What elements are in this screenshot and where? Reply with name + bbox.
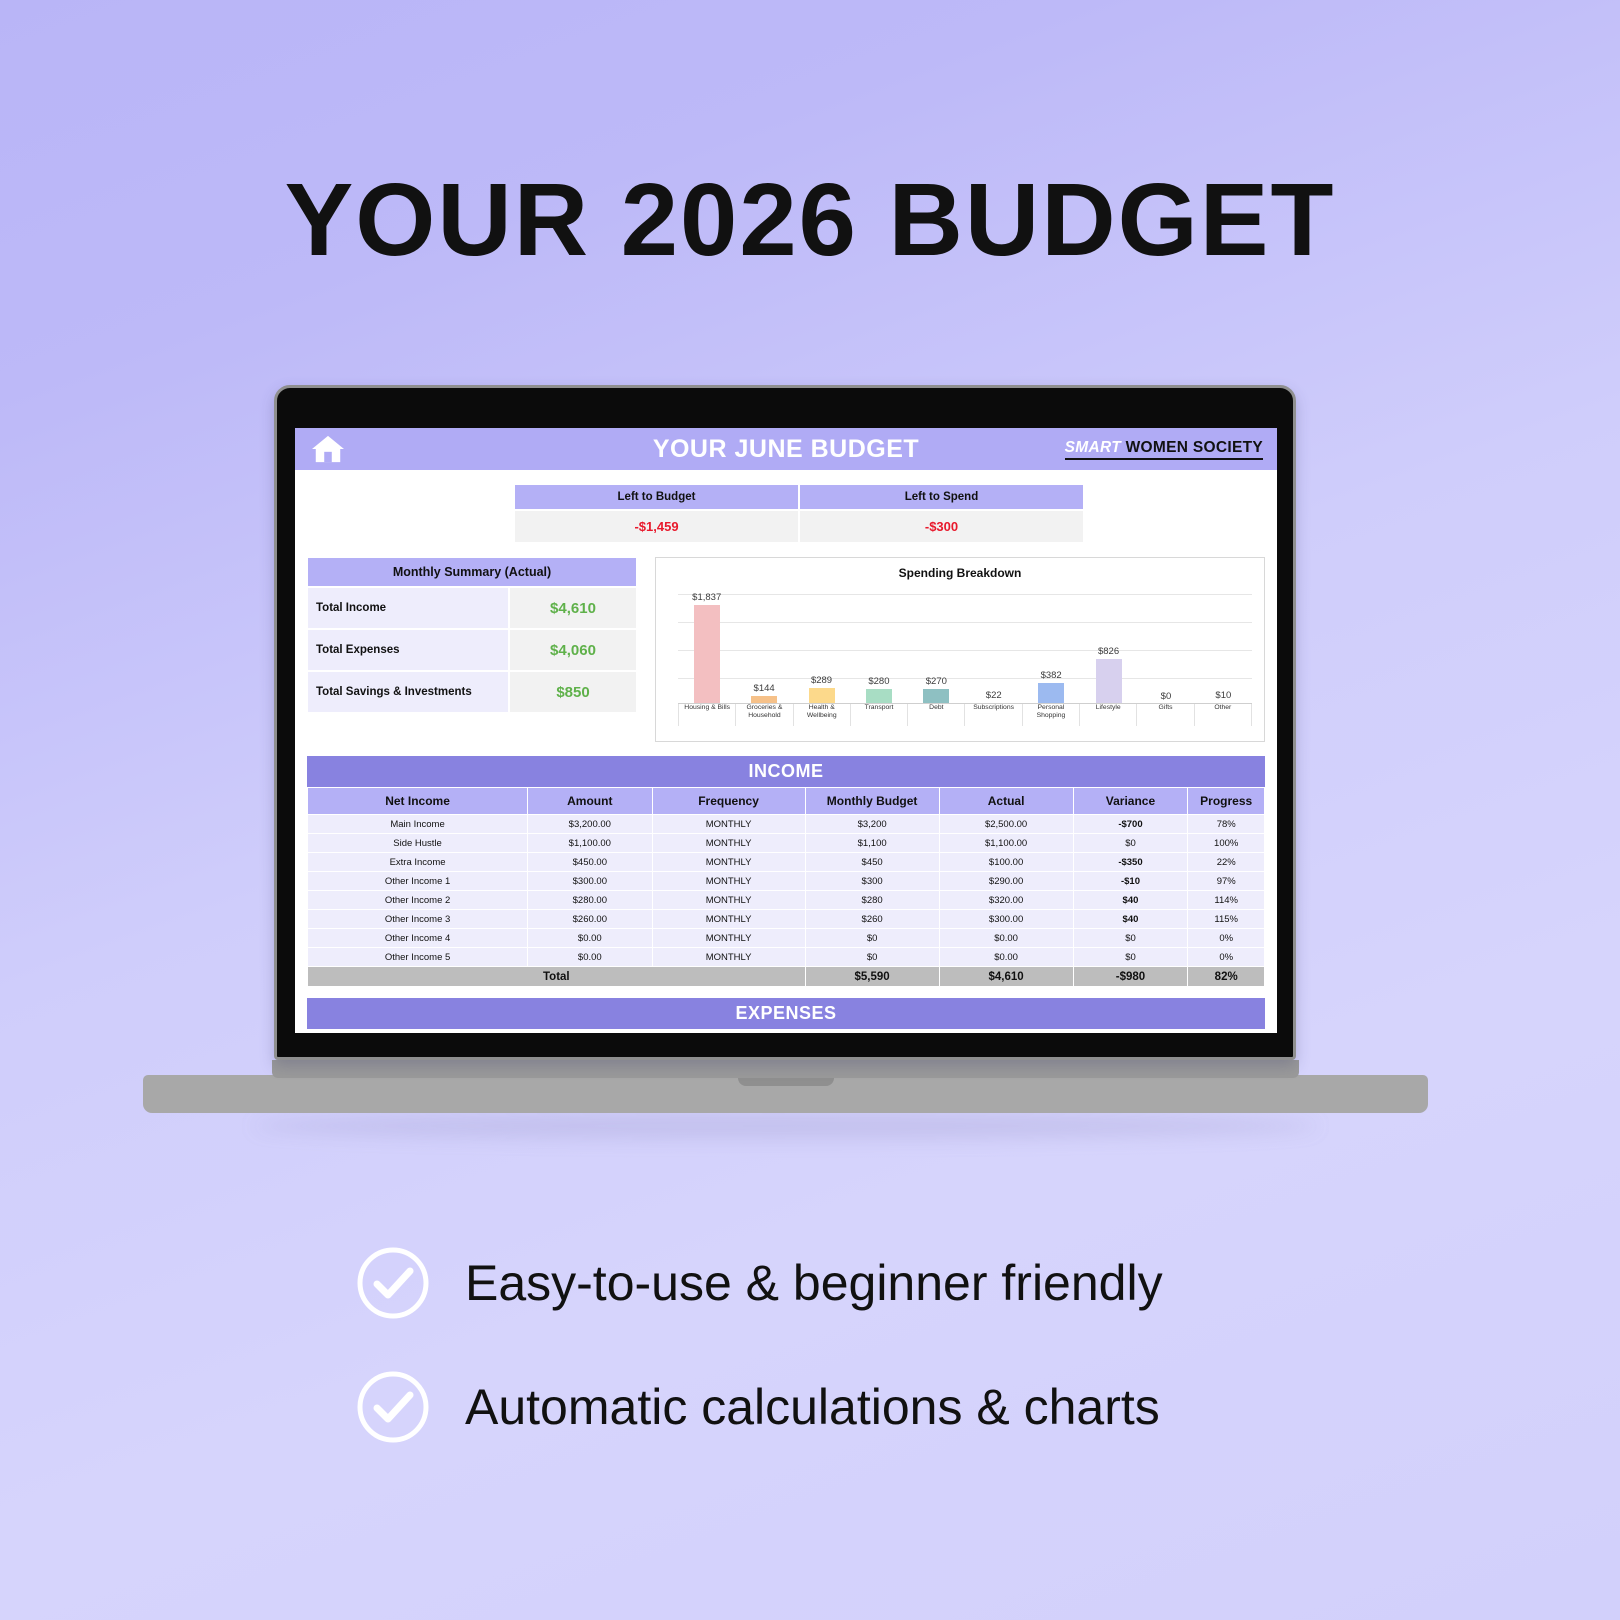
total-budget: $5,590 — [805, 967, 939, 987]
kpi-label: Left to Spend — [799, 484, 1084, 510]
chart-bar-slot: $826 — [1080, 590, 1137, 704]
row-progress: 114% — [1188, 891, 1265, 910]
chart-bar-value-label: $289 — [811, 675, 832, 686]
chart-bar-value-label: $1,837 — [692, 592, 721, 603]
col-monthly-budget: Monthly Budget — [805, 788, 939, 815]
bullet-label: Easy-to-use & beginner friendly — [465, 1254, 1163, 1312]
summary-and-chart: Monthly Summary (Actual) Total Income $4… — [295, 543, 1277, 742]
chart-x-tick-label: Personal Shopping — [1022, 704, 1079, 726]
chart-bar-value-label: $22 — [986, 690, 1002, 701]
chart-bar-slot: $382 — [1022, 590, 1079, 704]
col-progress: Progress — [1188, 788, 1265, 815]
col-actual: Actual — [939, 788, 1073, 815]
laptop-screen: YOUR JUNE BUDGET SMART WOMEN SOCIETY Lef… — [295, 428, 1277, 1033]
check-circle-icon — [355, 1245, 431, 1321]
row-progress: 78% — [1188, 815, 1265, 834]
kpi-left-to-budget: Left to Budget -$1,459 — [514, 484, 799, 543]
row-budget: $280 — [805, 891, 939, 910]
row-actual: $290.00 — [939, 872, 1073, 891]
chart-bar — [1038, 683, 1064, 704]
row-budget: $0 — [805, 948, 939, 967]
row-budget: $260 — [805, 910, 939, 929]
monthly-summary-table: Monthly Summary (Actual) Total Income $4… — [307, 557, 637, 742]
summary-value: $4,060 — [509, 629, 637, 671]
table-header-row: Net Income Amount Frequency Monthly Budg… — [308, 788, 1265, 815]
row-variance: $0 — [1073, 834, 1188, 853]
laptop-mockup: YOUR JUNE BUDGET SMART WOMEN SOCIETY Lef… — [143, 385, 1428, 1145]
total-label: Total — [308, 967, 806, 987]
row-amount: $0.00 — [528, 948, 652, 967]
row-frequency: MONTHLY — [652, 834, 805, 853]
income-section-band: INCOME — [307, 756, 1265, 787]
row-variance: -$10 — [1073, 872, 1188, 891]
row-name: Other Income 3 — [308, 910, 528, 929]
chart-bar — [809, 688, 835, 704]
chart-bar-value-label: $382 — [1041, 670, 1062, 681]
chart-bar — [866, 689, 892, 704]
chart-bar-value-label: $826 — [1098, 646, 1119, 657]
chart-plot-area: $1,837$144$289$280$270$22$382$826$0$10 H… — [664, 586, 1256, 726]
chart-bars: $1,837$144$289$280$270$22$382$826$0$10 — [678, 590, 1252, 704]
row-progress: 97% — [1188, 872, 1265, 891]
row-frequency: MONTHLY — [652, 853, 805, 872]
row-amount: $300.00 — [528, 872, 652, 891]
feature-bullets: Easy-to-use & beginner friendly Automati… — [355, 1245, 1355, 1493]
row-frequency: MONTHLY — [652, 815, 805, 834]
list-item: Easy-to-use & beginner friendly — [355, 1245, 1355, 1321]
row-name: Other Income 5 — [308, 948, 528, 967]
brand-women-society: WOMEN SOCIETY — [1126, 439, 1263, 456]
chart-x-tick-label: Lifestyle — [1079, 704, 1136, 726]
row-variance: -$350 — [1073, 853, 1188, 872]
chart-bar — [694, 605, 720, 704]
chart-x-tick-label: Health & Wellbeing — [793, 704, 850, 726]
row-budget: $300 — [805, 872, 939, 891]
chart-x-tick-label: Debt — [907, 704, 964, 726]
row-frequency: MONTHLY — [652, 948, 805, 967]
chart-bar-value-label: $144 — [754, 683, 775, 694]
table-row: Main Income$3,200.00MONTHLY$3,200$2,500.… — [308, 815, 1265, 834]
chart-x-tick-label: Subscriptions — [964, 704, 1021, 726]
chart-x-tick-label: Other — [1194, 704, 1252, 726]
row-variance: $40 — [1073, 910, 1188, 929]
row-variance: $0 — [1073, 929, 1188, 948]
table-row: Total Savings & Investments $850 — [307, 671, 637, 713]
chart-bar-slot: $0 — [1137, 590, 1194, 704]
sheet-header: YOUR JUNE BUDGET SMART WOMEN SOCIETY — [295, 428, 1277, 470]
laptop-base — [143, 1075, 1428, 1113]
chart-bar-slot: $270 — [908, 590, 965, 704]
row-progress: 115% — [1188, 910, 1265, 929]
chart-x-tick-label: Housing & Bills — [678, 704, 735, 726]
row-frequency: MONTHLY — [652, 910, 805, 929]
chart-x-tick-label: Gifts — [1136, 704, 1193, 726]
row-budget: $0 — [805, 929, 939, 948]
row-progress: 0% — [1188, 948, 1265, 967]
row-variance: $40 — [1073, 891, 1188, 910]
row-name: Other Income 2 — [308, 891, 528, 910]
brand-logo: SMART WOMEN SOCIETY — [1065, 439, 1263, 460]
row-budget: $450 — [805, 853, 939, 872]
chart-bar — [923, 689, 949, 704]
chart-bar — [1096, 659, 1122, 704]
brand-smart: SMART — [1065, 439, 1121, 456]
summary-label: Total Savings & Investments — [307, 671, 509, 713]
bullet-label: Automatic calculations & charts — [465, 1378, 1160, 1436]
row-frequency: MONTHLY — [652, 929, 805, 948]
laptop-shadow — [253, 1113, 1318, 1139]
kpi-value: -$300 — [799, 510, 1084, 543]
budget-spreadsheet: YOUR JUNE BUDGET SMART WOMEN SOCIETY Lef… — [295, 428, 1277, 1033]
col-frequency: Frequency — [652, 788, 805, 815]
chart-bar-slot: $289 — [793, 590, 850, 704]
chart-x-tick-label: Transport — [850, 704, 907, 726]
col-net-income: Net Income — [308, 788, 528, 815]
income-table: Net Income Amount Frequency Monthly Budg… — [307, 787, 1265, 987]
row-frequency: MONTHLY — [652, 872, 805, 891]
total-progress: 82% — [1188, 967, 1265, 987]
chart-bar-slot: $1,837 — [678, 590, 735, 704]
table-row: Total Income $4,610 — [307, 587, 637, 629]
col-variance: Variance — [1073, 788, 1188, 815]
row-name: Other Income 1 — [308, 872, 528, 891]
table-row: Other Income 1$300.00MONTHLY$300$290.00-… — [308, 872, 1265, 891]
chart-bar-slot: $22 — [965, 590, 1022, 704]
row-frequency: MONTHLY — [652, 891, 805, 910]
row-name: Extra Income — [308, 853, 528, 872]
chart-bar-value-label: $280 — [868, 676, 889, 687]
kpi-label: Left to Budget — [514, 484, 799, 510]
row-amount: $1,100.00 — [528, 834, 652, 853]
table-row: Other Income 5$0.00MONTHLY$0$0.00$00% — [308, 948, 1265, 967]
laptop-hinge — [272, 1060, 1299, 1078]
row-amount: $3,200.00 — [528, 815, 652, 834]
row-progress: 0% — [1188, 929, 1265, 948]
chart-bar-value-label: $0 — [1161, 691, 1172, 702]
laptop-lid: YOUR JUNE BUDGET SMART WOMEN SOCIETY Lef… — [274, 385, 1296, 1060]
table-row: Total Expenses $4,060 — [307, 629, 637, 671]
total-actual: $4,610 — [939, 967, 1073, 987]
summary-value: $4,610 — [509, 587, 637, 629]
kpi-value: -$1,459 — [514, 510, 799, 543]
table-row: Other Income 2$280.00MONTHLY$280$320.00$… — [308, 891, 1265, 910]
row-variance: -$700 — [1073, 815, 1188, 834]
table-row: Other Income 3$260.00MONTHLY$260$300.00$… — [308, 910, 1265, 929]
row-actual: $0.00 — [939, 929, 1073, 948]
total-variance: -$980 — [1073, 967, 1188, 987]
chart-bar-value-label: $10 — [1215, 690, 1231, 701]
row-actual: $0.00 — [939, 948, 1073, 967]
page-title: YOUR 2026 BUDGET — [0, 168, 1620, 271]
summary-label: Total Income — [307, 587, 509, 629]
table-row: Extra Income$450.00MONTHLY$450$100.00-$3… — [308, 853, 1265, 872]
row-amount: $450.00 — [528, 853, 652, 872]
row-amount: $0.00 — [528, 929, 652, 948]
spending-breakdown-chart: Spending Breakdown $1,837$144$289$280$27… — [655, 557, 1265, 742]
table-row: Other Income 4$0.00MONTHLY$0$0.00$00% — [308, 929, 1265, 948]
check-circle-icon — [355, 1369, 431, 1445]
chart-title: Spending Breakdown — [664, 566, 1256, 580]
row-actual: $1,100.00 — [939, 834, 1073, 853]
row-actual: $320.00 — [939, 891, 1073, 910]
row-actual: $100.00 — [939, 853, 1073, 872]
summary-label: Total Expenses — [307, 629, 509, 671]
kpi-left-to-spend: Left to Spend -$300 — [799, 484, 1084, 543]
table-row: Side Hustle$1,100.00MONTHLY$1,100$1,100.… — [308, 834, 1265, 853]
row-progress: 100% — [1188, 834, 1265, 853]
row-variance: $0 — [1073, 948, 1188, 967]
row-actual: $2,500.00 — [939, 815, 1073, 834]
row-name: Main Income — [308, 815, 528, 834]
col-amount: Amount — [528, 788, 652, 815]
chart-bar-value-label: $270 — [926, 676, 947, 687]
chart-bar-slot: $10 — [1195, 590, 1252, 704]
summary-title: Monthly Summary (Actual) — [307, 557, 637, 587]
expenses-section-band: EXPENSES — [307, 998, 1265, 1029]
chart-x-tick-label: Groceries & Household — [735, 704, 792, 726]
summary-value: $850 — [509, 671, 637, 713]
row-name: Other Income 4 — [308, 929, 528, 948]
row-actual: $300.00 — [939, 910, 1073, 929]
row-amount: $280.00 — [528, 891, 652, 910]
chart-x-labels: Housing & BillsGroceries & HouseholdHeal… — [678, 704, 1252, 726]
chart-bar-slot: $144 — [735, 590, 792, 704]
row-name: Side Hustle — [308, 834, 528, 853]
kpi-strip: Left to Budget -$1,459 Left to Spend -$3… — [295, 470, 1277, 543]
row-budget: $3,200 — [805, 815, 939, 834]
income-total-row: Total $5,590 $4,610 -$980 82% — [308, 967, 1265, 987]
row-progress: 22% — [1188, 853, 1265, 872]
list-item: Automatic calculations & charts — [355, 1369, 1355, 1445]
row-budget: $1,100 — [805, 834, 939, 853]
chart-bar-slot: $280 — [850, 590, 907, 704]
row-amount: $260.00 — [528, 910, 652, 929]
